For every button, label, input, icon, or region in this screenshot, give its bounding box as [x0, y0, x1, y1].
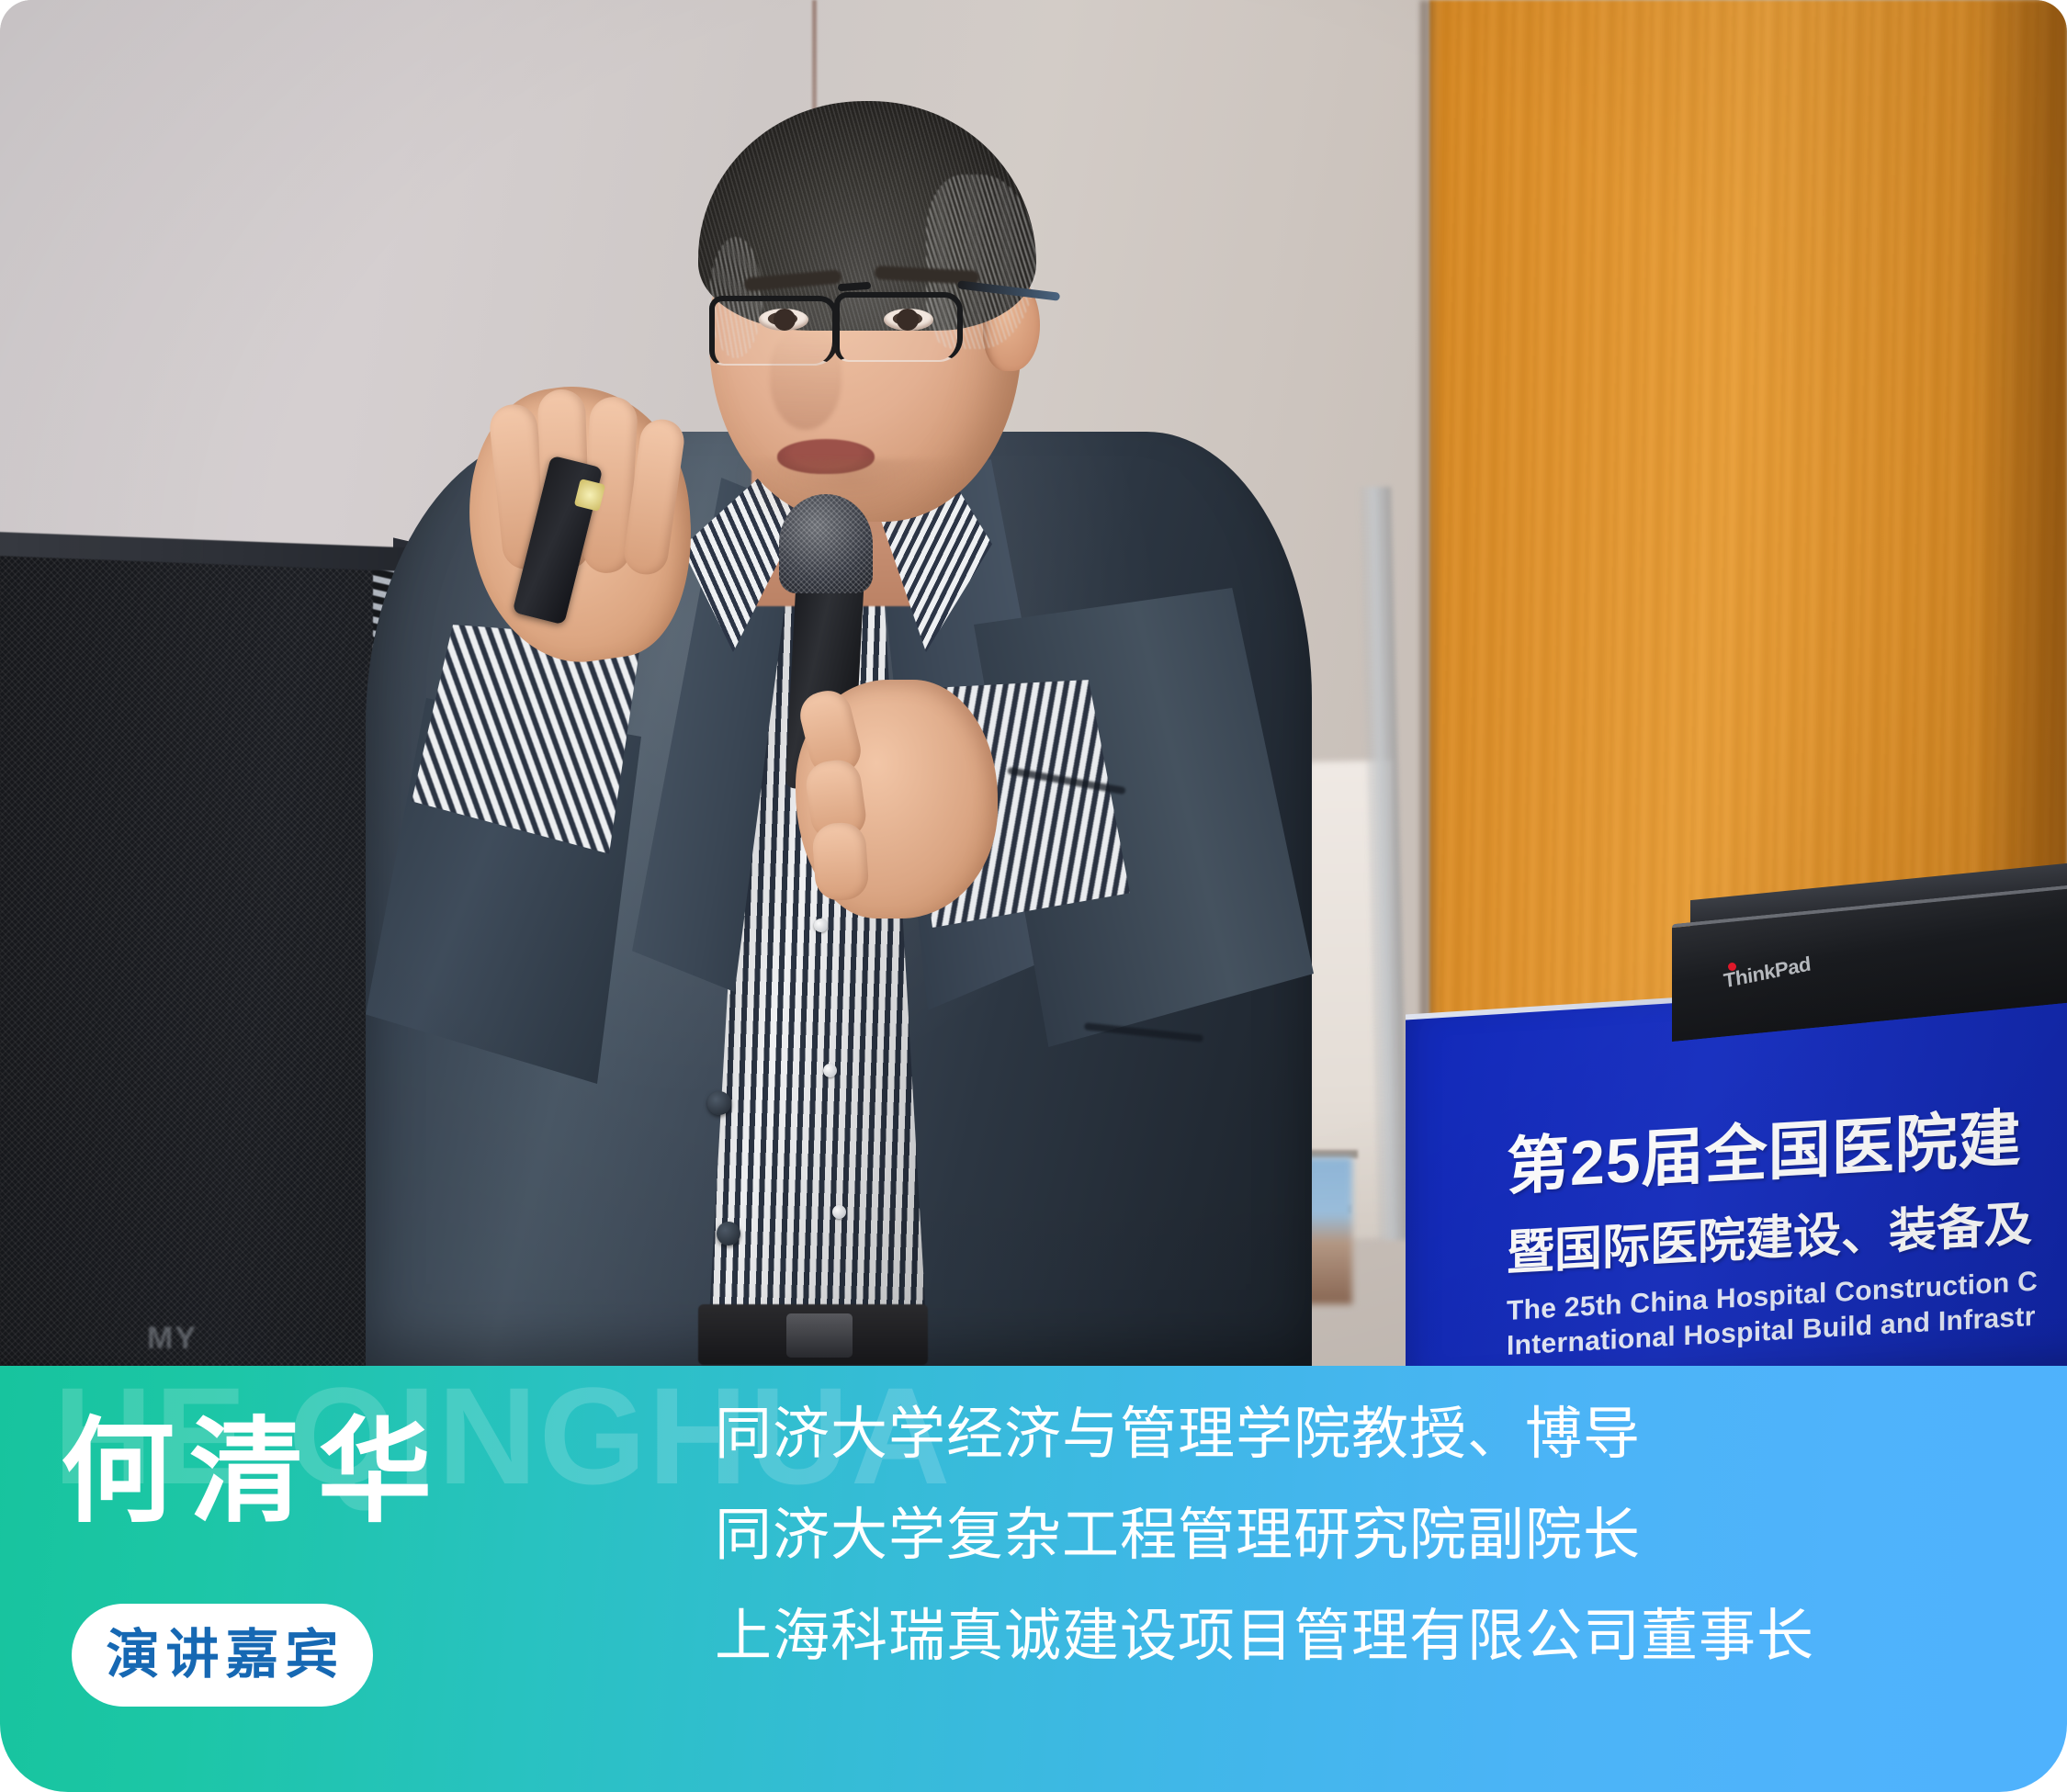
finger	[811, 821, 870, 902]
speaker-bio: 同济大学经济与管理学院教授、博导 同济大学复杂工程管理研究院副院长 上海科瑞真诚…	[715, 1406, 1814, 1665]
speaker-person	[0, 0, 2067, 1378]
speaker-photo: MY 第25届全国医院建 暨国际医院建设、装备及 The 25th China …	[0, 0, 2067, 1378]
eyeglass-temple-arm	[957, 280, 1060, 301]
belt-buckle	[786, 1313, 853, 1358]
eyeglass-bridge	[838, 282, 871, 291]
suit-button	[717, 1222, 740, 1245]
shirt-button	[814, 919, 828, 932]
shirt-button	[832, 1205, 846, 1219]
info-banner: HE QINGHUA 何清华 演讲嘉宾 同济大学经济与管理学院教授、博导 同济大…	[0, 1366, 2067, 1792]
microphone-head	[779, 494, 873, 593]
bio-line: 同济大学经济与管理学院教授、博导	[715, 1406, 1814, 1463]
eyeglasses	[698, 266, 1038, 386]
eyeglass-lens-right	[834, 292, 963, 362]
nose	[770, 331, 841, 430]
speaker-name: 何清华	[61, 1415, 446, 1529]
suit-button	[707, 1091, 731, 1115]
role-badge-label: 演讲嘉宾	[99, 1629, 344, 1682]
bio-line: 上海科瑞真诚建设项目管理有限公司董事长	[715, 1608, 1814, 1665]
role-badge: 演讲嘉宾	[72, 1604, 373, 1707]
speaker-profile-card: MY 第25届全国医院建 暨国际医院建设、装备及 The 25th China …	[0, 0, 2067, 1792]
shirt-button	[823, 1064, 837, 1077]
bio-line: 同济大学复杂工程管理研究院副院长	[715, 1507, 1814, 1564]
